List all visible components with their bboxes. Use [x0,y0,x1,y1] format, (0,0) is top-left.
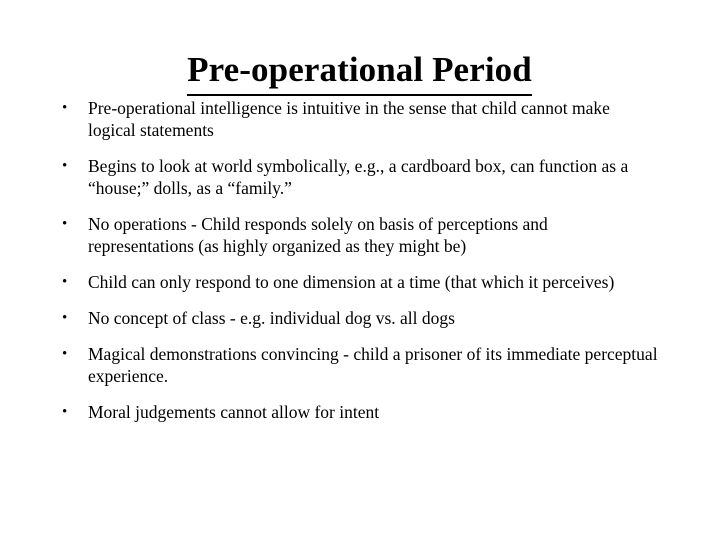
bullet-point-icon: • [62,307,76,329]
list-item-text: No operations - Child responds solely on… [88,213,658,257]
bullet-point-icon: • [62,401,76,423]
list-item: • Begins to look at world symbolically, … [58,155,658,199]
slide-canvas: Pre-operational Period • Pre-operational… [0,0,719,539]
list-item: • Pre-operational intelligence is intuit… [58,97,658,141]
list-item-text: Pre-operational intelligence is intuitiv… [88,97,658,141]
list-item: • No operations - Child responds solely … [58,213,658,257]
bullet-list: • Pre-operational intelligence is intuit… [58,97,658,423]
list-item: • No concept of class - e.g. individual … [58,307,658,329]
list-item-text: Magical demonstrations convincing - chil… [88,343,658,387]
list-item-text: Child can only respond to one dimension … [88,271,658,293]
list-item-text: Moral judgements cannot allow for intent [88,401,658,423]
bullet-point-icon: • [62,97,76,119]
list-item: • Magical demonstrations convincing - ch… [58,343,658,387]
bullet-point-icon: • [62,155,76,177]
list-item-text: Begins to look at world symbolically, e.… [88,155,658,199]
list-item: • Moral judgements cannot allow for inte… [58,401,658,423]
bullet-point-icon: • [62,343,76,365]
list-item-text: No concept of class - e.g. individual do… [88,307,658,329]
page-title: Pre-operational Period [187,49,532,96]
bullet-point-icon: • [62,213,76,235]
bullet-point-icon: • [62,271,76,293]
list-item: • Child can only respond to one dimensio… [58,271,658,293]
